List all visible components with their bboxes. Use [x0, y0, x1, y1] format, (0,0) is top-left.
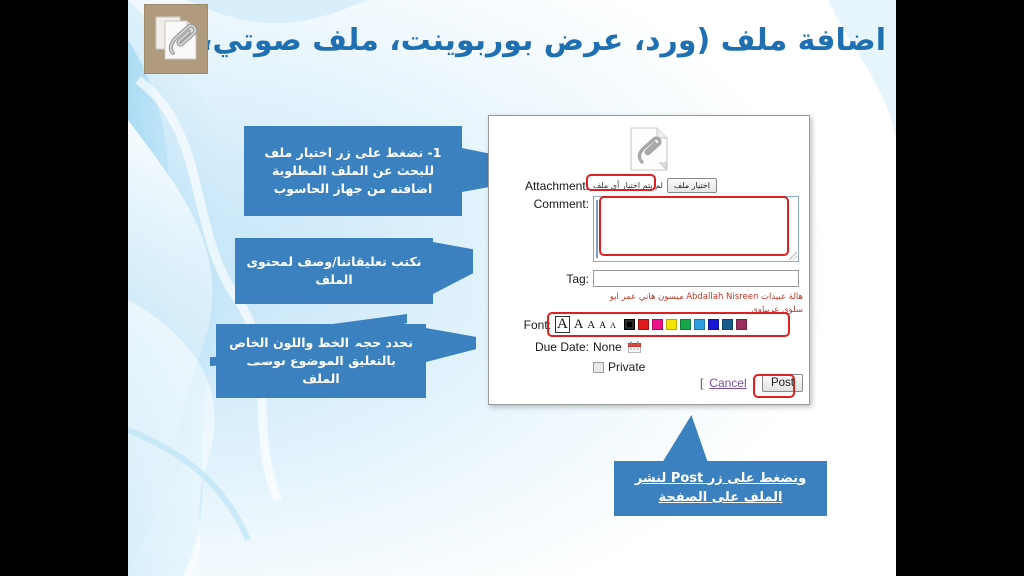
font-size-option-1[interactable]: A	[555, 316, 570, 333]
callout-comment-text: نكتب تعليقاتنا/وصف لمحتوى الملف	[245, 253, 423, 289]
paperclip-document-glyph	[153, 13, 199, 65]
comment-label: Comment:	[497, 196, 589, 211]
attachment-status-text: لم يتم اختيار أي ملف	[593, 181, 663, 190]
attachment-choose-file-button[interactable]: اختيار ملف	[667, 178, 717, 193]
due-date-value[interactable]: None	[593, 340, 622, 354]
font-label: Font:	[497, 318, 551, 332]
tag-label: Tag:	[497, 272, 589, 286]
calendar-icon[interactable]	[628, 341, 641, 353]
private-checkbox[interactable]	[593, 362, 604, 373]
font-size-option-2[interactable]: A	[574, 317, 583, 330]
callout-choose-file-text: 1- نضغط على زر اختيار ملف للبحث عن الملف…	[254, 144, 452, 198]
file-input-control[interactable]: اختيار ملف لم يتم اختيار أي ملف	[593, 178, 717, 193]
callout-comment: نكتب تعليقاتنا/وصف لمحتوى الملف	[235, 238, 433, 304]
callout-choose-file: 1- نضغط على زر اختيار ملف للبحث عن الملف…	[244, 126, 462, 216]
color-swatch-8[interactable]	[722, 319, 733, 330]
screenshot-stage: اضافة ملف (ورد، عرض بوربوينت، ملف صوتي،.…	[0, 0, 1024, 576]
font-color-picker[interactable]	[624, 319, 747, 330]
tag-suggestions: هالة عبيدات Abdallah Nisreen ميسون هاني …	[589, 291, 803, 317]
color-swatch-5[interactable]	[680, 319, 691, 330]
attachment-row: Attachment: اختيار ملف لم يتم اختيار أي …	[497, 178, 803, 193]
due-date-row: Due Date: None	[497, 340, 803, 354]
font-size-picker[interactable]: A A A A A	[555, 316, 616, 333]
bracket-open: [	[700, 376, 703, 390]
font-size-option-4[interactable]: A	[599, 322, 606, 332]
callout-post: ونضغط على زر Post لنشر الملف على الصفحة	[614, 461, 827, 516]
attachment-form-dialog: Attachment: اختيار ملف لم يتم اختيار أي …	[488, 115, 810, 405]
form-actions: [ Cancel ] Post	[497, 374, 803, 392]
font-size-option-3[interactable]: A	[587, 320, 595, 331]
color-swatch-3[interactable]	[652, 319, 663, 330]
document-attachment-icon	[144, 4, 208, 74]
callout-post-text: ونضغط على زر Post لنشر الملف على الصفحة	[624, 470, 817, 508]
color-swatch-9[interactable]	[736, 319, 747, 330]
slide-title-bar: اضافة ملف (ورد، عرض بوربوينت، ملف صوتي،.…	[128, 2, 896, 78]
bracket-close: ]	[753, 376, 756, 390]
callout-font-color: نحدد حجم الخط واللون الخاص بالتعليق المو…	[216, 324, 426, 398]
post-button[interactable]: Post	[762, 374, 803, 392]
presentation-slide: اضافة ملف (ورد، عرض بوربوينت، ملف صوتي،.…	[128, 0, 896, 576]
calendar-glyph	[628, 341, 641, 353]
comment-textarea[interactable]	[593, 196, 799, 262]
paperclip-document-glyph	[629, 126, 669, 172]
tag-input[interactable]	[593, 270, 799, 287]
attachment-label: Attachment:	[497, 179, 589, 193]
comment-row: Comment:	[497, 196, 803, 262]
text-cursor	[596, 200, 598, 258]
cancel-button[interactable]: Cancel	[709, 376, 746, 390]
font-size-option-5[interactable]: A	[610, 322, 616, 330]
paperclip-document-icon	[629, 126, 669, 172]
color-swatch-6[interactable]	[694, 319, 705, 330]
tag-row: Tag:	[497, 270, 803, 287]
page-title: اضافة ملف (ورد، عرض بوربوينت، ملف صوتي،.…	[165, 23, 886, 58]
font-size-and-color-row: Font: A A A A A	[497, 316, 803, 333]
color-swatch-2[interactable]	[638, 319, 649, 330]
color-swatch-1[interactable]	[624, 319, 635, 330]
private-label: Private	[608, 360, 645, 374]
due-date-label: Due Date:	[497, 340, 589, 354]
private-row: Private	[497, 360, 803, 374]
color-swatch-4[interactable]	[666, 319, 677, 330]
tag-suggestions-line-1: هالة عبيدات Abdallah Nisreen ميسون هاني …	[589, 291, 803, 304]
color-swatch-7[interactable]	[708, 319, 719, 330]
